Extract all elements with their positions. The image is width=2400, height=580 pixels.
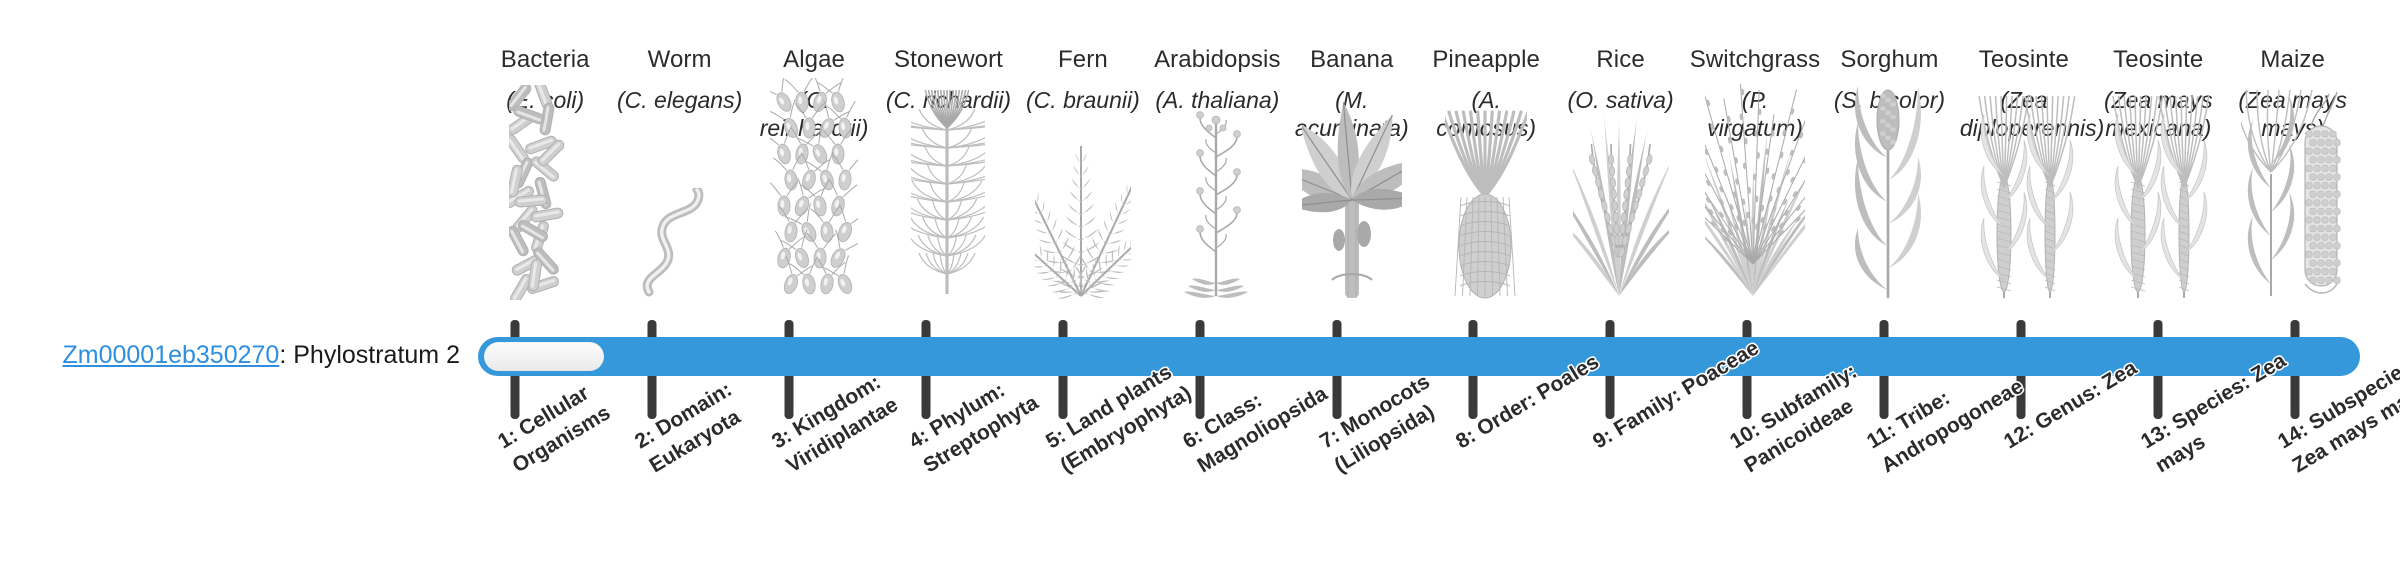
maize-ear-illustration bbox=[2225, 175, 2359, 300]
pineapple-illustration bbox=[1419, 175, 1553, 300]
species-common-name: Pineapple bbox=[1432, 46, 1540, 74]
sorghum-illustration bbox=[1822, 175, 1956, 300]
species-latin-name: (C. elegans) bbox=[617, 87, 742, 115]
species-column: Switchgrass(P. virgatum) bbox=[1688, 46, 1822, 300]
species-common-name: Arabidopsis bbox=[1154, 46, 1281, 74]
arabidopsis-illustration bbox=[1150, 175, 1284, 300]
phylostratum-bar-empty-slot bbox=[484, 342, 604, 371]
teosinte-ears-illustration bbox=[1957, 175, 2091, 300]
gene-phylostratum-label: Zm00001eb350270: Phylostratum 2 bbox=[40, 341, 460, 370]
species-header-row: Bacteria(E. coli)Worm(C. elegans) Algae(… bbox=[478, 46, 2360, 300]
phylostratum-value-text: Phylostratum 2 bbox=[293, 341, 460, 369]
species-common-name: Fern bbox=[1058, 46, 1108, 74]
species-column: Teosinte(Zea mays mexicana) bbox=[2091, 46, 2225, 300]
switchgrass-illustration bbox=[1688, 175, 1822, 300]
species-common-name: Rice bbox=[1596, 46, 1644, 74]
species-common-name: Banana bbox=[1310, 46, 1393, 74]
nematode-illustration bbox=[612, 175, 746, 300]
bacteria-illustration bbox=[478, 175, 612, 300]
species-column: Arabidopsis(A. thaliana) bbox=[1150, 46, 1284, 300]
teosinte-ears-illustration bbox=[2091, 175, 2225, 300]
gene-label-separator: : bbox=[279, 341, 293, 369]
species-common-name: Algae bbox=[783, 46, 845, 74]
algae-cells-illustration bbox=[747, 175, 881, 300]
species-column: Bacteria(E. coli) bbox=[478, 46, 612, 300]
species-common-name: Switchgrass bbox=[1690, 46, 1820, 74]
species-column: Stonewort(C. richardii) bbox=[881, 46, 1015, 300]
species-common-name: Sorghum bbox=[1840, 46, 1938, 74]
species-column: Sorghum(S. bicolor) bbox=[1822, 46, 1956, 300]
species-common-name: Maize bbox=[2260, 46, 2325, 74]
species-column: Rice(O. sativa) bbox=[1553, 46, 1687, 300]
banana-palm-illustration bbox=[1285, 175, 1419, 300]
species-column: Pineapple(A. comosus) bbox=[1419, 46, 1553, 300]
species-common-name: Stonewort bbox=[894, 46, 1003, 74]
rice-plant-illustration bbox=[1553, 175, 1687, 300]
species-column: Teosinte(Zea diploperennis) bbox=[1957, 46, 2091, 300]
species-column: Fern(C. braunii) bbox=[1016, 46, 1150, 300]
phylostratum-figure: Bacteria(E. coli)Worm(C. elegans) Algae(… bbox=[0, 0, 2400, 580]
species-common-name: Bacteria bbox=[501, 46, 590, 74]
species-column: Banana(M. acuminata) bbox=[1285, 46, 1419, 300]
stonewort-illustration bbox=[881, 175, 1015, 300]
species-common-name: Worm bbox=[648, 46, 712, 74]
species-column: Algae(C. reinhardtii) bbox=[747, 46, 881, 300]
species-column: Maize(Zea mays mays) bbox=[2225, 46, 2359, 300]
species-common-name: Teosinte bbox=[2113, 46, 2203, 74]
species-common-name: Teosinte bbox=[1979, 46, 2069, 74]
species-column: Worm(C. elegans) bbox=[612, 46, 746, 300]
gene-id-link[interactable]: Zm00001eb350270 bbox=[62, 341, 279, 369]
fern-illustration bbox=[1016, 175, 1150, 300]
